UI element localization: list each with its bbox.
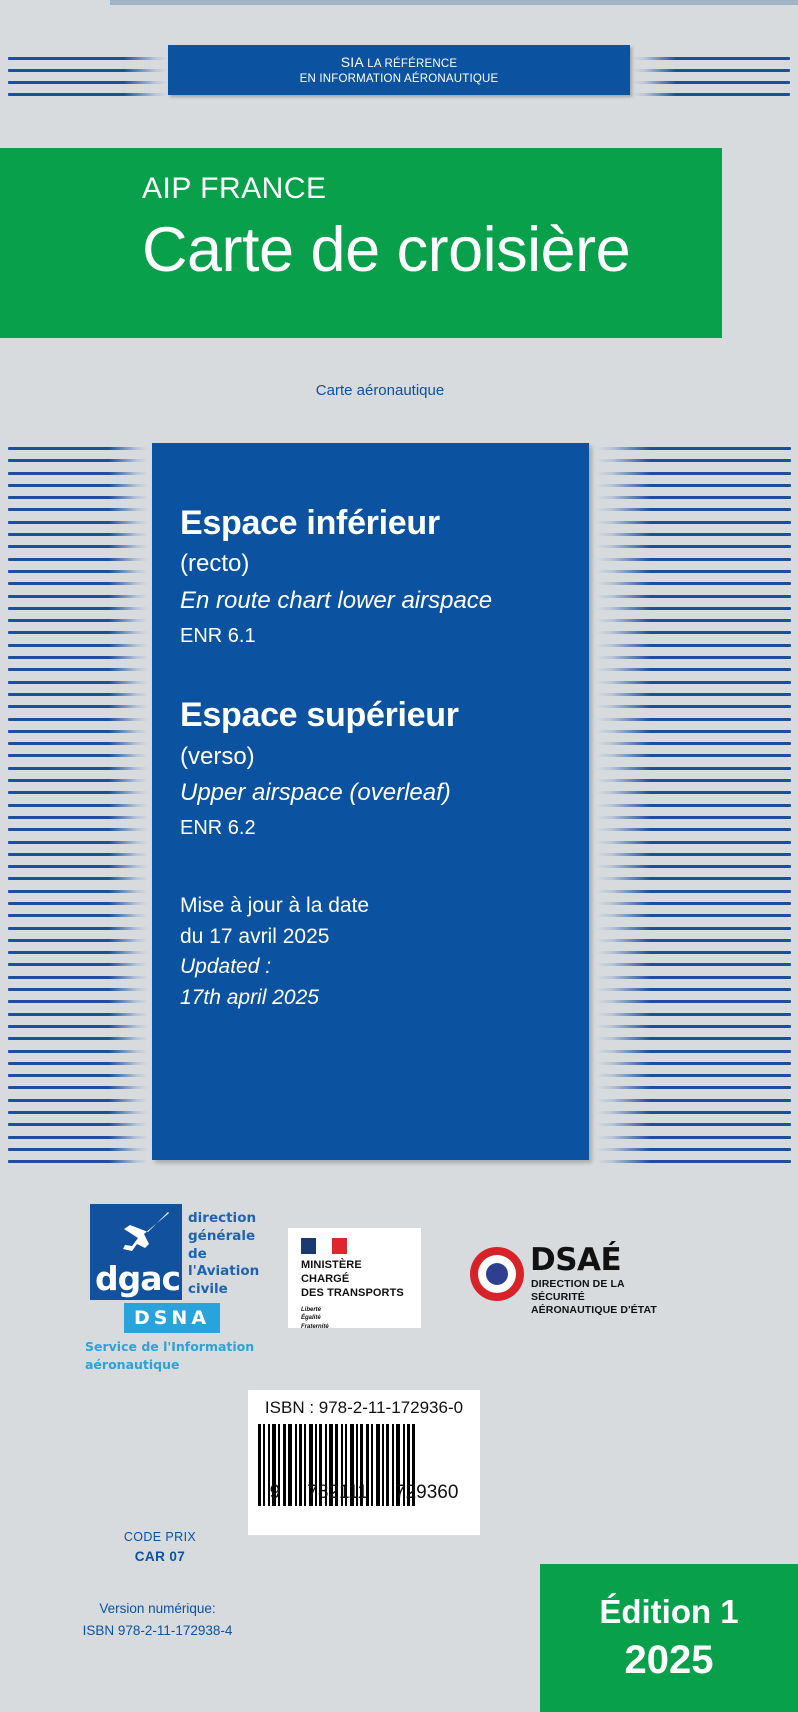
sia-service-line2: aéronautique [85,1356,254,1374]
dsae-wordmark: DSAÉ [530,1245,621,1276]
sia-banner-line2: EN INFORMATION AÉRONAUTIQUE [300,72,499,86]
dgac-subtitle: direction générale de l'Aviation civile [188,1210,275,1299]
dgac-logo: dgac direction générale de l'Aviation ci… [90,1204,275,1334]
edition-label: Édition 1 [599,1593,738,1631]
sia-banner: SIA LA RÉFÉRENCE EN INFORMATION AÉRONAUT… [168,45,630,95]
price-code: CODE PRIX CAR 07 [70,1528,250,1567]
motto-line1: Liberté [301,1306,421,1315]
barcode-digit-group-2: 782111 [307,1482,368,1504]
ministry-line3: DES TRANSPORTS [301,1287,421,1301]
top-edge-strip [0,0,798,5]
dsae-logo: DSAÉ DIRECTION DE LA SÉCURITÉ AÉRONAUTIQ… [470,1245,670,1315]
sia-acronym: SIA [341,54,364,70]
dgac-subtitle-line2: générale [188,1228,275,1246]
section-lower-heading: Espace inférieur [180,505,589,542]
dgac-subtitle-line1: direction [188,1210,275,1228]
republic-motto: Liberté Égalité Fraternité [301,1306,421,1332]
page-subtitle: Carte aéronautique [0,382,760,399]
sia-banner-line1-text: LA RÉFÉRENCE [364,58,457,70]
dsae-subtitle-line1: DIRECTION DE LA SÉCURITÉ [531,1278,670,1304]
top-edge-notch [0,0,110,5]
barcode-digit-group-1: 9 [270,1482,281,1504]
digital-version-info: Version numérique: ISBN 978-2-11-172938-… [55,1598,260,1641]
decorative-rules-left [8,447,148,1173]
chart-info-panel: Espace inférieur (recto) En route chart … [152,443,589,1160]
page-title: Carte de croisière [142,218,722,282]
green-title-block: AIP FRANCE Carte de croisière [0,148,722,338]
motto-line3: Fraternité [301,1323,421,1332]
section-lower-ref: ENR 6.1 [180,623,589,649]
page-kicker: AIP FRANCE [142,174,722,204]
ministry-logo: MINISTÈRE CHARGÉ DES TRANSPORTS Liberté … [288,1228,421,1328]
edition-badge: Édition 1 2025 [540,1564,798,1712]
dgac-subtitle-line3: de l'Aviation [188,1246,275,1282]
motto-line2: Égalité [301,1314,421,1323]
update-date-fr-line1: Mise à jour à la date [180,891,589,921]
price-code-label: CODE PRIX [70,1528,250,1547]
roundel-icon [470,1247,524,1301]
dsae-subtitle-line2: AÉRONAUTIQUE D'ÉTAT [531,1304,670,1317]
dsna-label: DSNA [134,1307,210,1329]
section-upper-ref: ENR 6.2 [180,815,589,841]
section-upper-side: (verso) [180,741,589,773]
dgac-subtitle-line4: civile [188,1281,275,1299]
sia-service-caption: Service de l'Information aéronautique [85,1338,254,1373]
section-upper-english: Upper airspace (overleaf) [180,777,589,809]
isbn-label: ISBN : 978-2-11-172936-0 [248,1398,480,1418]
french-flag-icon [301,1238,347,1254]
decorative-rules-top-right [632,57,790,105]
airplane-icon [118,1210,176,1252]
dgac-logo-box: dgac [90,1204,182,1300]
dsna-badge: DSNA [124,1303,220,1333]
ministry-line1: MINISTÈRE [301,1259,421,1273]
update-date-en-value: 17th april 2025 [180,983,589,1013]
isbn-barcode-block: ISBN : 978-2-11-172936-0 9 782111 729360 [248,1390,480,1535]
section-lower-english: En route chart lower airspace [180,585,589,617]
section-upper-heading: Espace supérieur [180,697,589,734]
dgac-wordmark: dgac [95,1262,180,1295]
dsae-subtitle: DIRECTION DE LA SÉCURITÉ AÉRONAUTIQUE D'… [531,1278,670,1317]
decorative-rules-right [596,447,791,1173]
update-date-fr-line2: du 17 avril 2025 [180,922,589,952]
decorative-rules-top-left [8,57,168,105]
ministry-name: MINISTÈRE CHARGÉ DES TRANSPORTS [301,1259,421,1301]
update-date-en-label: Updated : [180,952,589,982]
digital-version-label: Version numérique: [55,1598,260,1620]
ministry-line2: CHARGÉ [301,1273,421,1287]
sia-banner-line1: SIA LA RÉFÉRENCE [341,54,458,72]
barcode-digit-group-3: 729360 [395,1482,458,1504]
price-code-value: CAR 07 [70,1547,250,1567]
section-lower-side: (recto) [180,548,589,580]
sia-service-line1: Service de l'Information [85,1338,254,1356]
edition-year: 2025 [625,1637,714,1683]
digital-version-isbn: ISBN 978-2-11-172938-4 [55,1620,260,1642]
